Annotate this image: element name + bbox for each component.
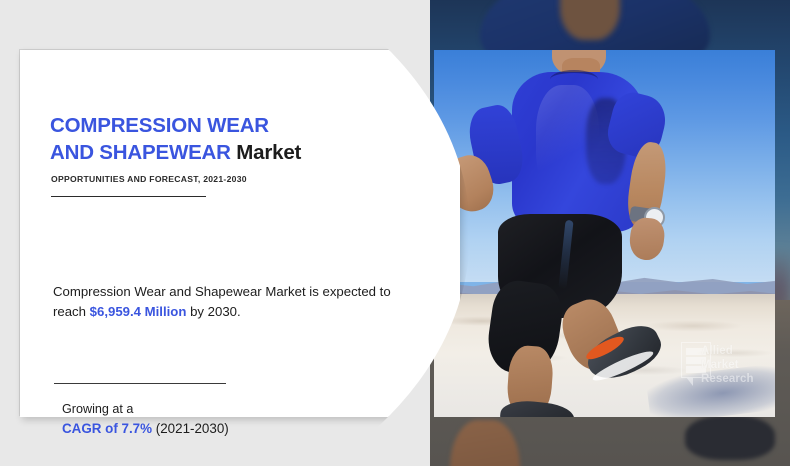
- logo-line-2: Market: [701, 358, 754, 372]
- page-title: COMPRESSION WEAR AND SHAPEWEAR Market: [50, 112, 370, 167]
- title-line1: COMPRESSION WEAR: [50, 114, 269, 137]
- content-card-inner: COMPRESSION WEAR AND SHAPEWEAR Market OP…: [50, 50, 390, 417]
- runner-right-hand: [628, 216, 666, 261]
- title-divider: [51, 196, 206, 197]
- runner-shirt-collar: [550, 70, 598, 89]
- backdrop-runner-shoe: [685, 415, 775, 460]
- market-summary-suffix: by 2030.: [186, 304, 240, 319]
- logo-wordmark: Allied Market Research: [701, 344, 754, 386]
- title-suffix: Market: [236, 141, 301, 164]
- infographic-banner: COMPRESSION WEAR AND SHAPEWEAR Market OP…: [0, 0, 790, 466]
- allied-market-research-logo: Allied Market Research: [681, 342, 761, 388]
- growth-label: Growing at a: [62, 400, 133, 419]
- summary-divider: [54, 383, 226, 384]
- report-subtitle: OPPORTUNITIES AND FORECAST, 2021-2030: [51, 174, 247, 184]
- cagr-value: CAGR of 7.7%: [62, 421, 152, 436]
- market-value: $6,959.4 Million: [90, 304, 187, 319]
- logo-bubble-tail-icon: [686, 377, 693, 386]
- cagr-period: (2021-2030): [156, 421, 229, 436]
- content-card: COMPRESSION WEAR AND SHAPEWEAR Market OP…: [20, 50, 460, 417]
- cagr-statement: CAGR of 7.7% (2021-2030): [62, 420, 229, 439]
- logo-line-1: Allied: [701, 344, 754, 358]
- title-line2: AND SHAPEWEAR: [50, 141, 231, 164]
- logo-line-3: Research: [701, 372, 754, 386]
- market-summary: Compression Wear and Shapewear Market is…: [53, 282, 393, 323]
